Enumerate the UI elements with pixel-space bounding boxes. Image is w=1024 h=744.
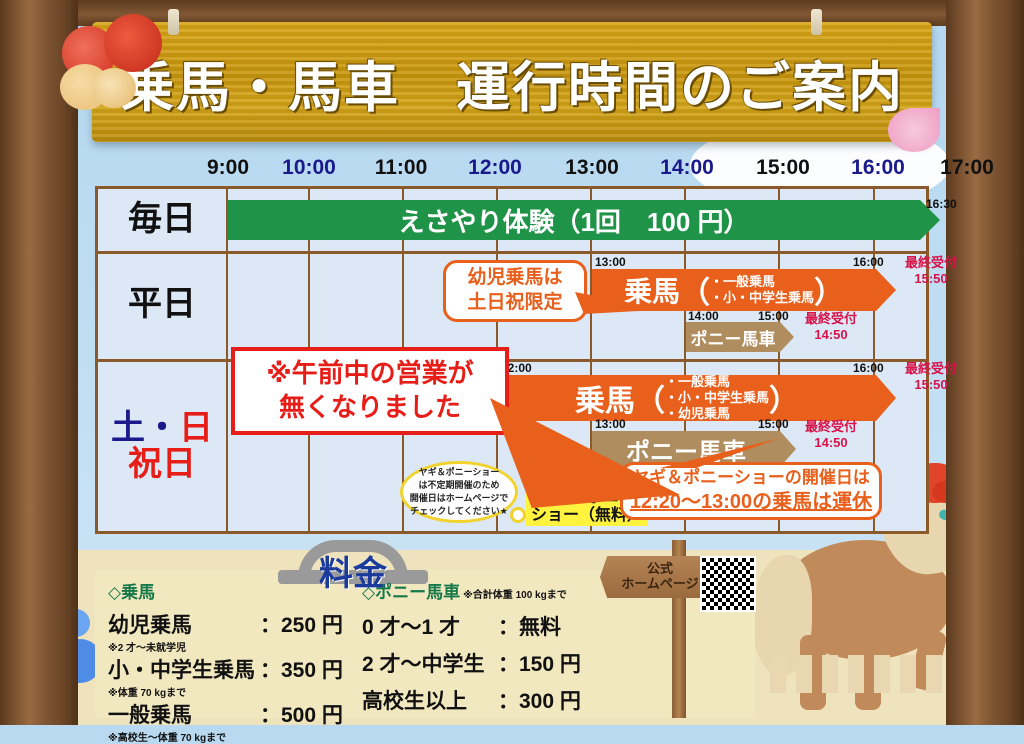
show-bubble-tail	[510, 507, 526, 523]
paren-close-weekday: ）	[814, 268, 844, 312]
bar-weekday-pony: ポニー馬車	[686, 322, 780, 352]
fee-pony-sep-2: ：	[498, 690, 519, 713]
fee-group-pony: ◇ポニー馬車 ※合計体重 100 kgまで 0 才〜1 才：無料 2 才〜中学生…	[362, 578, 622, 715]
last-reception-time-1: 15:50	[914, 271, 947, 286]
fee-pony-heading: ◇ポニー馬車	[362, 578, 460, 603]
callout-toddler-line2: 土日祝限定	[467, 292, 562, 313]
weekday-riding-end: 16:00	[853, 255, 884, 269]
callout-show-line1: ヤギ＆ポニーショーの開催日は	[632, 468, 870, 487]
axis-tick-4: 13:00	[565, 156, 619, 180]
callout-toddler-line1: 幼児乗馬は	[467, 267, 562, 288]
weekday-riding-start: 13:00	[595, 255, 626, 269]
last-reception-time-3: 15:50	[914, 377, 947, 392]
fee-riding-sep-2: ：	[260, 704, 281, 727]
last-reception-label-1: 最終受付	[905, 255, 957, 270]
fee-riding-sep-0: ：	[260, 614, 281, 637]
axis-tick-3: 12:00	[468, 156, 522, 180]
weekday-pony-start: 14:00	[688, 309, 719, 323]
official-site-line1: 公式	[647, 561, 673, 576]
weekend-option-2: ・幼児乗馬	[665, 406, 730, 421]
page-title: 乗馬・馬車 運行時間のご案内	[120, 43, 904, 122]
row-label-weekend: 土・日 祝日	[98, 359, 226, 534]
sun-label: 日	[179, 409, 213, 447]
bar-weekend-riding-label: 乗馬	[575, 376, 635, 420]
show-bubble-line3: 開催日はホームページで	[410, 493, 509, 503]
fee-pony-price-0: 無料	[519, 616, 561, 639]
bar-weekday-pony-label: ポニー馬車	[691, 325, 776, 350]
weekend-pony-start: 13:00	[595, 417, 626, 431]
fee-riding-price-0: 250 円	[281, 614, 343, 637]
axis-tick-8: 17:00	[940, 156, 994, 180]
fee-pony-item-0: 0 才〜1 才：無料	[362, 611, 622, 641]
weekend-option-0: ・一般乗馬	[665, 374, 730, 389]
fee-riding-note-0: ※2 才〜未就学児	[108, 639, 358, 654]
fee-riding-note-2: ※高校生〜体重 70 kgまで	[108, 729, 358, 744]
fee-group-riding: ◇乗馬 幼児乗馬：250 円 ※2 才〜未就学児 小・中学生乗馬：350 円 ※…	[108, 578, 358, 744]
last-reception-label-2: 最終受付	[805, 311, 857, 326]
cosmos-decoration	[888, 108, 940, 152]
fee-pony-item-2: 高校生以上：300 円	[362, 685, 622, 715]
bar-weekday-riding-options: ・一般乗馬 ・小・中学生乗馬	[710, 274, 814, 307]
fee-riding-sep-1: ：	[260, 659, 281, 682]
bar-feeding-label: えさやり体験（1回 100 円）	[398, 202, 749, 239]
paren-close-weekend: ）	[769, 376, 799, 420]
bar-feeding: えさやり体験（1回 100 円）	[228, 200, 920, 240]
weekday-pony-last-reception: 最終受付 14:50	[792, 311, 870, 344]
show-bubble-line4: チェックしてください★	[410, 506, 508, 516]
axis-tick-0: 9:00	[207, 156, 249, 180]
fee-riding-price-2: 500 円	[281, 704, 343, 727]
paren-open-weekend: （	[635, 376, 665, 420]
time-axis: 9:00 10:00 11:00 12:00 13:00 14:00 15:00…	[95, 156, 975, 186]
callout-morning-line2: 無くなりました	[279, 392, 461, 422]
axis-tick-7: 16:00	[851, 156, 905, 180]
callout-toddler-riding: 幼児乗馬は 土日祝限定	[443, 260, 587, 322]
fee-pony-price-2: 300 円	[519, 690, 581, 713]
weekday-option-0: ・一般乗馬	[710, 274, 775, 289]
weekend-riding-end: 16:00	[853, 361, 884, 375]
fee-riding-heading: ◇乗馬	[108, 578, 358, 603]
axis-tick-1: 10:00	[282, 156, 336, 180]
axis-tick-2: 11:00	[375, 156, 428, 180]
show-bubble-line2: は不定期開催のため	[418, 480, 499, 490]
fee-riding-item-0: 幼児乗馬：250 円 ※2 才〜未就学児	[108, 609, 358, 654]
axis-tick-6: 15:00	[756, 156, 810, 180]
fee-pony-name-1: 2 才〜中学生	[362, 648, 498, 678]
row-label-weekday: 平日	[98, 251, 226, 359]
fee-pony-item-1: 2 才〜中学生：150 円	[362, 648, 622, 678]
fee-riding-name-1: 小・中学生乗馬	[108, 654, 260, 684]
fee-riding-note-1: ※体重 70 kgまで	[108, 684, 358, 699]
weekend-riding-last-reception: 最終受付 15:50	[888, 361, 974, 394]
axis-tick-5: 14:00	[660, 156, 714, 180]
fee-riding-item-2: 一般乗馬：500 円 ※高校生〜体重 70 kgまで	[108, 699, 358, 744]
fee-pony-sep-1: ：	[498, 653, 519, 676]
weekday-riding-last-reception: 最終受付 15:50	[888, 255, 974, 288]
weekday-pony-end: 15:00	[758, 309, 789, 323]
row-label-weekend-line1: 土・日	[111, 411, 213, 447]
callout-morning-closed: ※午前中の営業が 無くなりました	[231, 347, 509, 435]
row-label-weekend-line2: 祝日	[128, 447, 196, 483]
fee-pony-price-1: 150 円	[519, 653, 581, 676]
title-board: 乗馬・馬車 運行時間のご案内	[92, 22, 932, 142]
bar-weekend-riding: 乗馬 （ ・一般乗馬 ・小・中学生乗馬 ・幼児乗馬 ）	[498, 375, 876, 421]
qr-pattern	[702, 558, 754, 610]
fee-pony-name-0: 0 才〜1 才	[362, 611, 498, 641]
last-reception-label-3: 最終受付	[905, 361, 957, 376]
weekend-pony-last-reception: 最終受付 14:50	[792, 419, 870, 452]
callout-morning-line1: ※午前中の営業が	[266, 358, 473, 388]
weekend-pony-end: 15:00	[758, 417, 789, 431]
row-label-everyday: 毎日	[98, 189, 226, 251]
official-site-line2: ホームページ	[621, 576, 698, 591]
weekend-option-1: ・小・中学生乗馬	[665, 390, 769, 405]
last-reception-time-2: 14:50	[814, 327, 847, 342]
fee-pony-heading-note: ※合計体重 100 kgまで	[463, 586, 567, 601]
sat-label: 土・	[111, 409, 179, 447]
paren-open-weekday: （	[680, 268, 710, 312]
bar-weekend-riding-options: ・一般乗馬 ・小・中学生乗馬 ・幼児乗馬	[665, 374, 769, 423]
last-reception-label-4: 最終受付	[805, 419, 857, 434]
show-bubble-line1: ヤギ＆ポニーショー	[419, 467, 500, 477]
fee-riding-name-0: 幼児乗馬	[108, 609, 260, 639]
feeding-end-time: 16:30	[926, 197, 957, 211]
weekday-option-1: ・小・中学生乗馬	[710, 290, 814, 305]
fee-pony-name-2: 高校生以上	[362, 685, 498, 715]
fee-riding-item-1: 小・中学生乗馬：350 円 ※体重 70 kgまで	[108, 654, 358, 699]
qr-code[interactable]	[700, 556, 756, 612]
show-info-bubble: ヤギ＆ポニーショー は不定期開催のため 開催日はホームページで チェックしてくだ…	[400, 461, 518, 523]
fee-pony-sep-0: ：	[498, 616, 519, 639]
fee-riding-price-1: 350 円	[281, 659, 343, 682]
rose-decoration	[48, 6, 168, 116]
last-reception-time-4: 14:50	[814, 435, 847, 450]
